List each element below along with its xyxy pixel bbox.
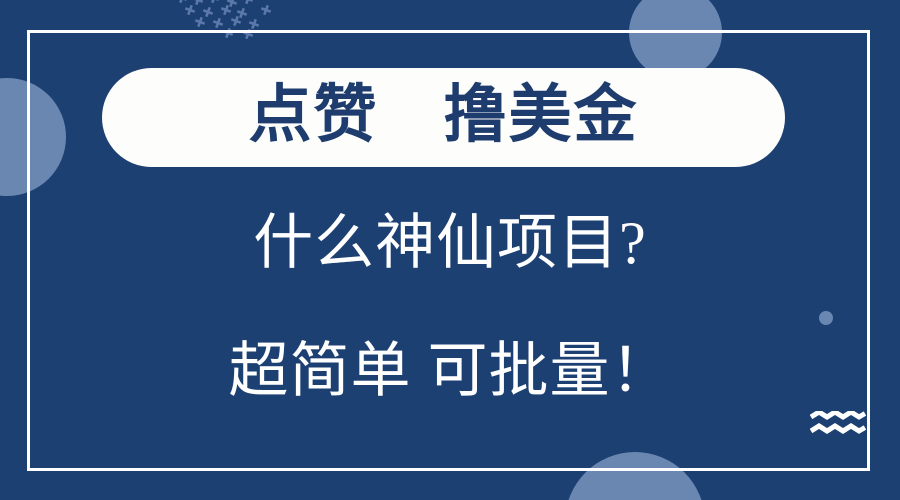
- page-title: 点赞 撸美金: [249, 84, 639, 147]
- subtitle-line-2: 超简单 可批量！: [0, 341, 900, 401]
- title-pill-banner: 点赞 撸美金: [102, 68, 785, 167]
- subtitle-line-1: 什么神仙项目?: [0, 213, 900, 273]
- promo-poster: 点赞 撸美金 什么神仙项目? 超简单 可批量！: [0, 0, 900, 500]
- poster-content: 点赞 撸美金 什么神仙项目? 超简单 可批量！: [0, 0, 900, 500]
